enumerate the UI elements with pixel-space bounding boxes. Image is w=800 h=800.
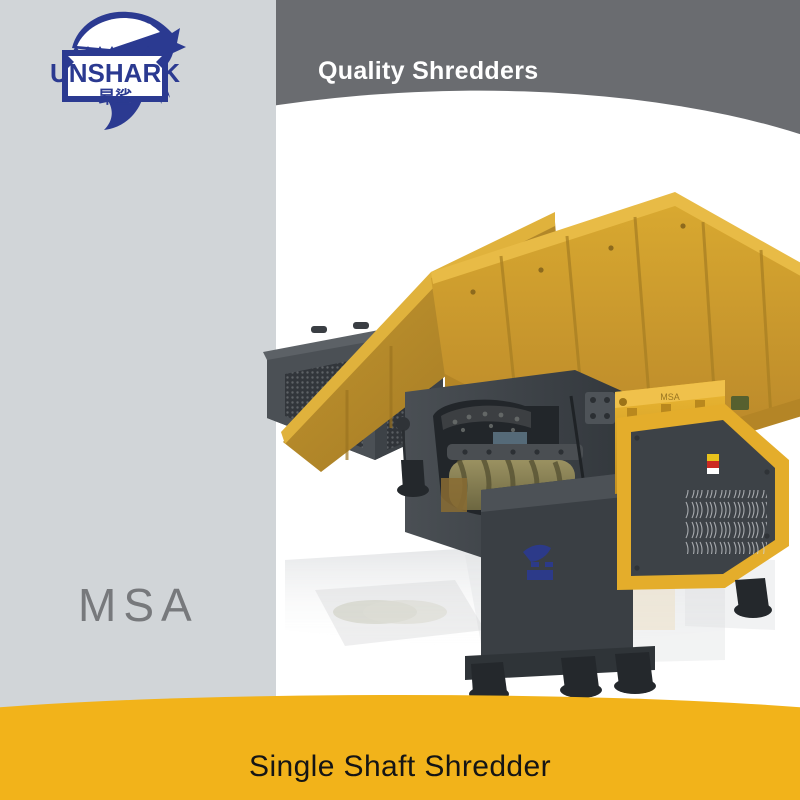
- product-photo-single-shaft-shredder: MSA: [255, 160, 800, 730]
- svg-text:MSA: MSA: [660, 392, 680, 402]
- product-banner: UNSHARK 昂鲨 Quality Shredders: [0, 0, 800, 800]
- logo-chinese-name: 昂鲨: [98, 88, 132, 108]
- product-model-label: MSA: [78, 578, 199, 632]
- machine-body: [481, 472, 633, 672]
- left-gray-panel-lower: [0, 205, 276, 745]
- footer-title: Single Shaft Shredder: [0, 750, 800, 784]
- logo-wordmark: UNSHARK: [50, 58, 180, 88]
- warning-label-icon: [707, 454, 719, 474]
- footer-band: Single Shaft Shredder: [0, 695, 800, 800]
- header-title: Quality Shredders: [318, 57, 538, 86]
- brand-logo[interactable]: UNSHARK 昂鲨: [44, 6, 194, 134]
